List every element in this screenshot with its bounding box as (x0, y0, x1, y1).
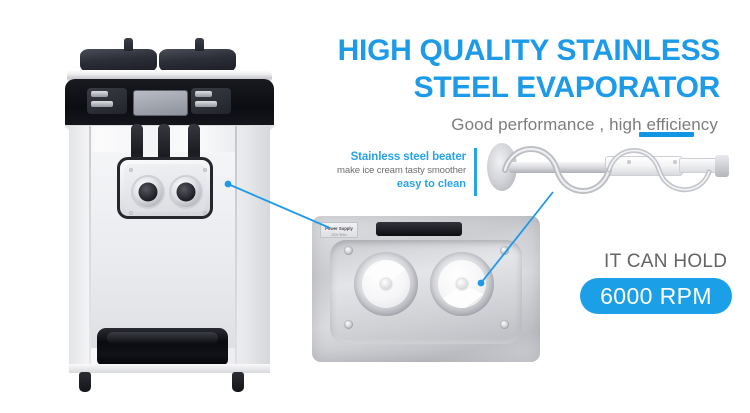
callout-divider (474, 148, 477, 196)
detail-panel-screw (500, 246, 509, 255)
headline-line-2: STEEL EVAPORATOR (300, 70, 720, 107)
detail-cylinder-hub-left (381, 279, 392, 290)
rpm-badge-value: 6000 RPM (600, 283, 712, 310)
hopper-lid-knob-left (124, 38, 133, 51)
drip-tray (97, 328, 228, 365)
detail-cylinder-hub-right (457, 279, 468, 290)
ice-cream-machine-image (55, 22, 290, 392)
panel-screw (203, 211, 207, 215)
power-supply-label-sub: 220V 50Hz (321, 232, 357, 238)
callout-line-2: make ice cream tasty smoother (300, 165, 466, 177)
headline: HIGH QUALITY STAINLESS STEEL EVAPORATOR (300, 33, 720, 106)
detail-panel-screw (500, 320, 509, 329)
machine-cylinder-opening-right (169, 175, 203, 209)
detail-black-strip (376, 222, 462, 236)
machine-foot-left (79, 372, 91, 392)
stainless-beater-image (487, 140, 730, 202)
machine-foot-right (232, 372, 244, 392)
control-buttons-right (191, 88, 231, 114)
control-display (133, 90, 188, 116)
rpm-badge: 6000 RPM (580, 278, 732, 314)
panel-screw (129, 168, 133, 172)
beater-callout: Stainless steel beater make ice cream ta… (300, 150, 466, 191)
poster-canvas: HIGH QUALITY STAINLESS STEEL EVAPORATOR … (0, 0, 750, 413)
panel-screw (129, 211, 133, 215)
hopper-lid-knob-right (195, 38, 204, 51)
control-buttons-left (87, 88, 127, 114)
callout-line-1: Stainless steel beater (300, 150, 466, 164)
beater-spiral-blade-icon (501, 140, 726, 200)
power-supply-label: Power Supply 220V 50Hz (320, 222, 358, 238)
machine-front-panel (117, 157, 213, 219)
power-supply-label-title: Power Supply (321, 225, 357, 232)
detail-cylinder-left (354, 252, 418, 316)
detail-panel-screw (344, 246, 353, 255)
badge-prefix: IT CAN HOLD (604, 251, 727, 273)
evaporator-panel-detail-image: Power Supply 220V 50Hz (312, 216, 540, 362)
panel-screw (203, 168, 207, 172)
hopper-lid-left (80, 49, 157, 72)
machine-body-seam-right (235, 126, 237, 371)
detail-panel-screw (344, 320, 353, 329)
hopper-lid-right (159, 49, 236, 72)
machine-cylinder-opening-left (131, 175, 165, 209)
headline-subtitle: Good performance , high efficiency (300, 115, 718, 135)
headline-line-1: HIGH QUALITY STAINLESS (300, 33, 720, 70)
callout-line-3: easy to clean (300, 178, 466, 191)
detail-cylinder-right (430, 252, 494, 316)
